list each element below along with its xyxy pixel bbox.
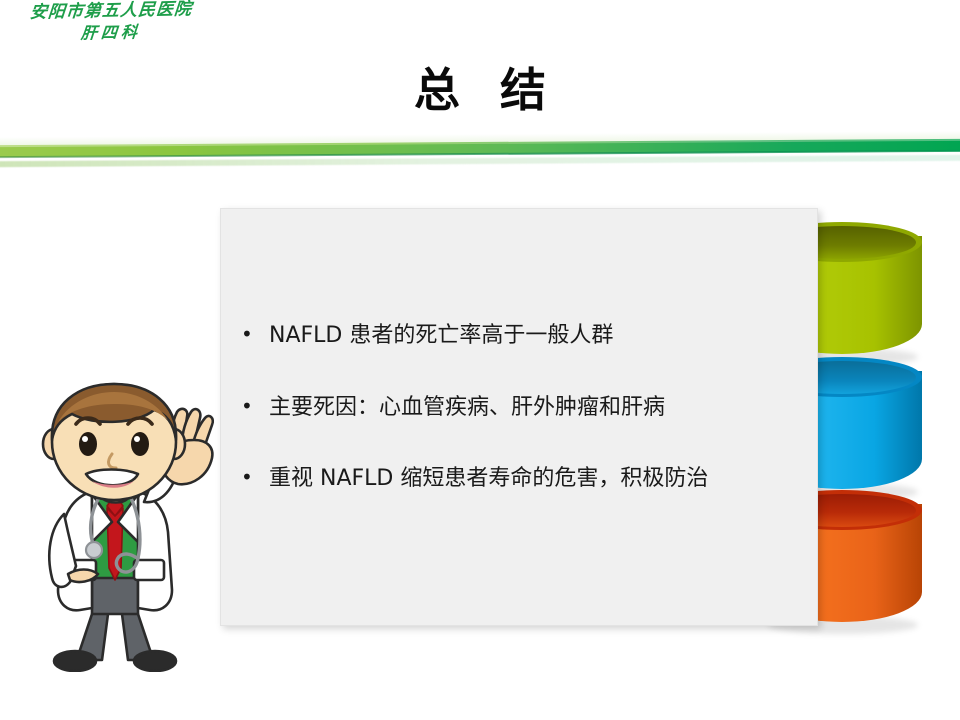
page-title: 总 结 [0, 54, 960, 120]
list-item-label: 重视 NAFLD 缩短患者寿命的危害，积极防治 [269, 464, 799, 494]
list-item: • 主要死因：心血管疾病、肝外肿瘤和肝病 [239, 393, 799, 423]
list-item-label: 主要死因：心血管疾病、肝外肿瘤和肝病 [269, 393, 799, 423]
hospital-department-text: 肝四科 [5, 21, 217, 43]
doctor-icon [28, 382, 218, 672]
hospital-logo: 安阳市第五人民医院 肝四科 [6, 2, 216, 41]
bullet-list: • NAFLD 患者的死亡率高于一般人群 • 主要死因：心血管疾病、肝外肿瘤和肝… [239, 321, 799, 494]
list-item: • 重视 NAFLD 缩短患者寿命的危害，积极防治 [239, 464, 799, 494]
content-panel: • NAFLD 患者的死亡率高于一般人群 • 主要死因：心血管疾病、肝外肿瘤和肝… [220, 208, 818, 626]
waving-doctor-illustration [28, 382, 218, 672]
bullet-marker-icon: • [239, 321, 269, 348]
divider [0, 128, 960, 172]
slide-canvas: 安阳市第五人民医院 肝四科 总 结 [0, 0, 960, 720]
bullet-marker-icon: • [239, 393, 269, 420]
list-item: • NAFLD 患者的死亡率高于一般人群 [239, 321, 799, 351]
bullet-marker-icon: • [239, 464, 269, 491]
list-item-label: NAFLD 患者的死亡率高于一般人群 [269, 321, 799, 351]
hospital-name-text: 安阳市第五人民医院 [5, 0, 217, 23]
